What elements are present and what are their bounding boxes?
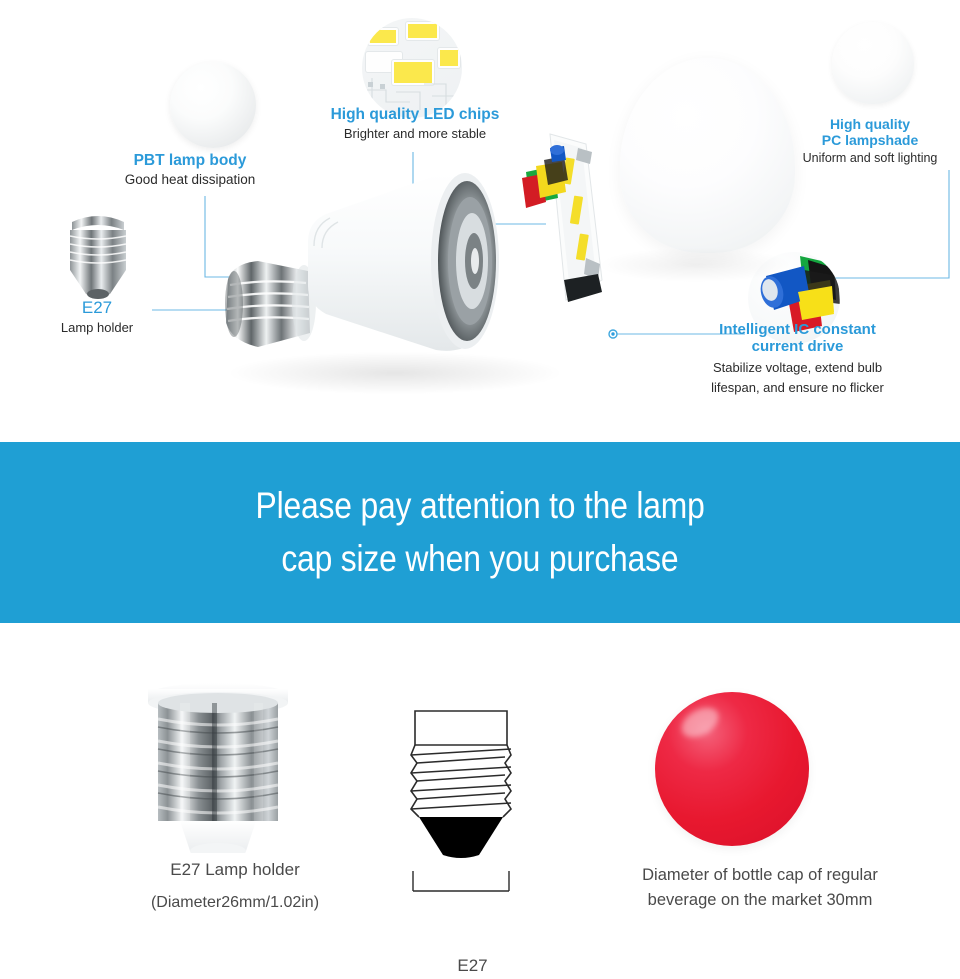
e27-line-drawing-icon — [395, 705, 550, 935]
callout-intelligent-ic: Intelligent IC constant current drive St… — [655, 321, 940, 396]
e27-screw-base-part — [62, 208, 134, 300]
callout-pc-title-line1: High quality — [780, 116, 960, 132]
bottle-cap-caption-line1: Diameter of bottle cap of regular — [560, 863, 960, 888]
lamp-body-sphere-icon — [170, 62, 256, 148]
callout-led-chips: High quality LED chips Brighter and more… — [300, 106, 530, 142]
callout-pc-lampshade: High quality PC lampshade Uniform and so… — [780, 116, 960, 167]
size-comparison-section: E27 Lamp holder (Diameter26mm/1.02in) — [0, 623, 960, 960]
callout-ic-subtitle-line2: lifespan, and ensure no flicker — [655, 380, 940, 396]
comparison-item-e27-diagram: E27 — [395, 623, 550, 979]
attention-banner: Please pay attention to the lamp cap siz… — [0, 442, 960, 623]
lamp-holder-caption: E27 Lamp holder — [40, 858, 430, 883]
exploded-view-section: PBT lamp body Good heat dissipation High… — [0, 0, 960, 442]
callout-pc-subtitle: Uniform and soft lighting — [780, 151, 960, 167]
e27-lamp-holder-photo-icon — [40, 623, 430, 853]
comparison-item-lamp-holder: E27 Lamp holder (Diameter26mm/1.02in) — [40, 623, 430, 914]
pc-lampshade-dome-icon — [832, 22, 914, 104]
callout-pbt-subtitle: Good heat dissipation — [60, 172, 320, 189]
product-infographic-page: PBT lamp body Good heat dissipation High… — [0, 0, 960, 960]
callout-ic-title-line1: Intelligent IC constant — [655, 321, 940, 338]
callout-ic-title-line2: current drive — [655, 338, 940, 355]
led-chip-closeup-icon — [362, 18, 462, 118]
callout-e27-subtitle: Lamp holder — [22, 320, 172, 336]
e27-diagram-caption: E27 — [395, 954, 550, 979]
assembly-shadow — [230, 352, 560, 394]
callout-e27-title: E27 — [22, 298, 172, 318]
callout-e27-holder: E27 Lamp holder — [22, 298, 172, 336]
bottle-cap-caption-line2: beverage on the market 30mm — [560, 888, 960, 913]
led-driver-board-part — [520, 130, 630, 310]
red-bottle-cap-icon — [655, 692, 809, 846]
callout-pbt-title: PBT lamp body — [60, 152, 320, 170]
callout-led-subtitle: Brighter and more stable — [300, 126, 530, 142]
callout-ic-subtitle-line1: Stabilize voltage, extend bulb — [655, 360, 940, 376]
callout-pbt-lamp-body: PBT lamp body Good heat dissipation — [60, 152, 320, 189]
callout-pc-title-line2: PC lampshade — [780, 132, 960, 148]
dome-shadow — [600, 248, 790, 282]
pbt-lamp-body-part — [300, 168, 530, 358]
callout-led-title: High quality LED chips — [300, 106, 530, 124]
banner-line-1: Please pay attention to the lamp — [255, 480, 704, 533]
banner-line-2: cap size when you purchase — [281, 533, 678, 586]
lamp-holder-subcaption: (Diameter26mm/1.02in) — [40, 891, 430, 914]
